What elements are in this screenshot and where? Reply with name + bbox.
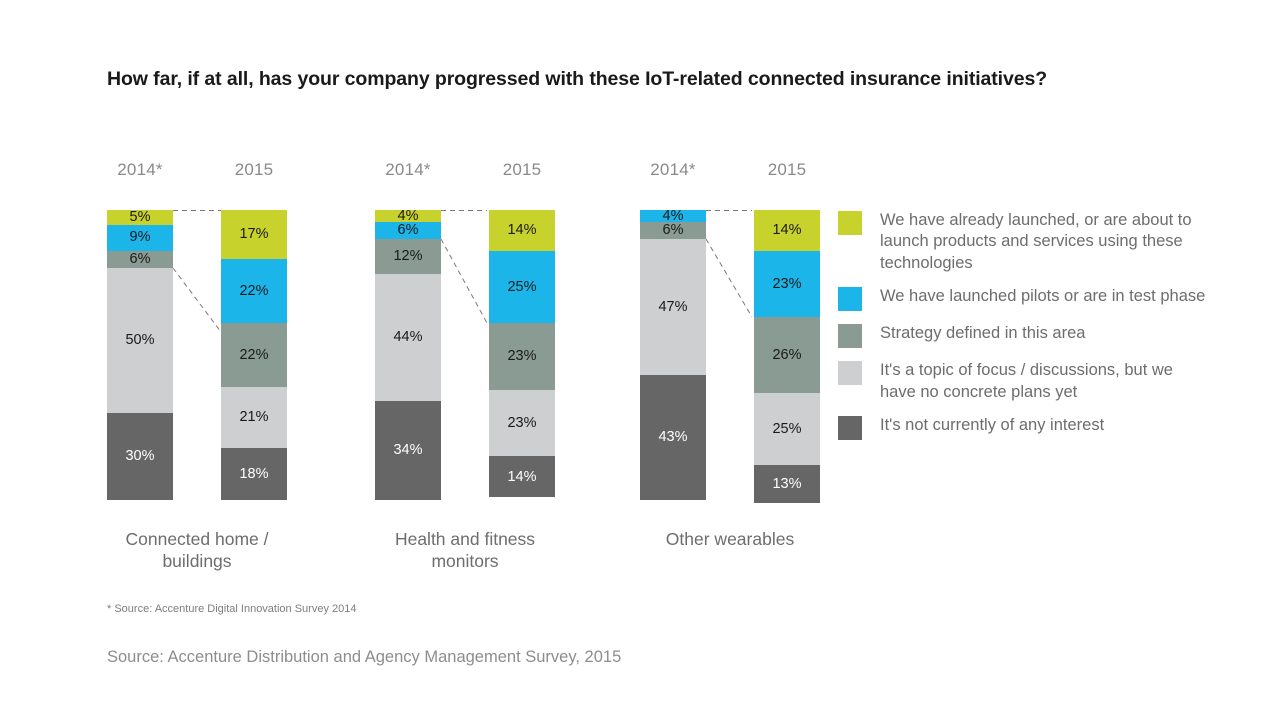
bar-segment-strategy[interactable]: 12% — [375, 239, 441, 274]
bar-segment-launched[interactable]: 17% — [221, 210, 287, 259]
bar-segment-topic[interactable]: 25% — [754, 393, 820, 466]
segment-value-label: 4% — [398, 210, 419, 222]
bar-segment-no-interest[interactable]: 18% — [221, 448, 287, 500]
stacked-bar[interactable]: 14%23%26%25%13% — [754, 210, 820, 500]
bar-segment-topic[interactable]: 50% — [107, 268, 173, 413]
segment-value-label: 4% — [663, 210, 684, 222]
category-label: Connected home /buildings — [102, 528, 292, 573]
category-label: Other wearables — [635, 528, 825, 550]
stacked-bar[interactable]: 5%9%6%50%30% — [107, 210, 173, 500]
segment-value-label: 17% — [239, 227, 268, 242]
bar-segment-strategy[interactable]: 6% — [107, 251, 173, 268]
legend-item[interactable]: We have launched pilots or are in test p… — [838, 286, 1208, 311]
legend-item[interactable]: Strategy defined in this area — [838, 323, 1208, 348]
bar-segment-topic[interactable]: 21% — [221, 387, 287, 448]
bar-segment-launched[interactable]: 4% — [375, 210, 441, 222]
category-label-line1: Other wearables — [635, 528, 825, 550]
segment-value-label: 47% — [658, 300, 687, 315]
bar-segment-pilots[interactable]: 6% — [375, 222, 441, 239]
chart-legend: We have already launched, or are about t… — [838, 210, 1208, 452]
legend-swatch-icon — [838, 416, 862, 440]
bar-segment-no-interest[interactable]: 43% — [640, 375, 706, 500]
segment-value-label: 21% — [239, 410, 268, 425]
legend-swatch-icon — [838, 324, 862, 348]
bar-segment-no-interest[interactable]: 13% — [754, 465, 820, 503]
bar-segment-topic[interactable]: 47% — [640, 239, 706, 375]
legend-swatch-icon — [838, 361, 862, 385]
segment-value-label: 6% — [663, 223, 684, 238]
bar-segment-topic[interactable]: 23% — [489, 390, 555, 457]
legend-label: We have already launched, or are about t… — [880, 210, 1208, 274]
bar-segment-no-interest[interactable]: 14% — [489, 456, 555, 497]
segment-value-label: 12% — [393, 249, 422, 264]
source-main: Source: Accenture Distribution and Agenc… — [107, 648, 621, 667]
stacked-bar[interactable]: 14%25%23%23%14% — [489, 210, 555, 500]
bar-segment-strategy[interactable]: 23% — [489, 323, 555, 390]
bar-segment-pilots[interactable]: 9% — [107, 225, 173, 251]
segment-value-label: 5% — [130, 210, 151, 225]
source-footnote: * Source: Accenture Digital Innovation S… — [107, 603, 356, 615]
segment-value-label: 26% — [772, 348, 801, 363]
segment-value-label: 14% — [507, 223, 536, 238]
segment-value-label: 44% — [393, 330, 422, 345]
stacked-bar[interactable]: 4%6%12%44%34% — [375, 210, 441, 500]
bar-segment-launched[interactable]: 5% — [107, 210, 173, 225]
year-label: 2014* — [640, 160, 706, 180]
segment-value-label: 25% — [507, 280, 536, 295]
legend-swatch-icon — [838, 287, 862, 311]
bar-segment-launched[interactable]: 14% — [489, 210, 555, 251]
bar-segment-pilots[interactable]: 25% — [489, 251, 555, 324]
year-label: 2014* — [107, 160, 173, 180]
category-label: Health and fitnessmonitors — [370, 528, 560, 573]
category-label-line1: Connected home / — [102, 528, 292, 550]
bar-segment-topic[interactable]: 44% — [375, 274, 441, 402]
segment-value-label: 23% — [772, 277, 801, 292]
legend-swatch-icon — [838, 211, 862, 235]
segment-value-label: 23% — [507, 349, 536, 364]
year-label: 2014* — [375, 160, 441, 180]
segment-value-label: 6% — [130, 252, 151, 267]
segment-value-label: 13% — [772, 477, 801, 492]
legend-label: We have launched pilots or are in test p… — [880, 286, 1205, 307]
segment-value-label: 34% — [393, 443, 422, 458]
segment-value-label: 22% — [239, 348, 268, 363]
segment-value-label: 43% — [658, 430, 687, 445]
segment-value-label: 9% — [130, 230, 151, 245]
bar-segment-launched[interactable]: 14% — [754, 210, 820, 251]
category-label-line2: monitors — [370, 550, 560, 572]
category-label-line1: Health and fitness — [370, 528, 560, 550]
segment-value-label: 18% — [239, 467, 268, 482]
stacked-bar[interactable]: 17%22%22%21%18% — [221, 210, 287, 500]
segment-value-label: 30% — [125, 449, 154, 464]
legend-item[interactable]: It's a topic of focus / discussions, but… — [838, 360, 1208, 403]
segment-value-label: 14% — [507, 470, 536, 485]
segment-value-label: 23% — [507, 416, 536, 431]
segment-value-label: 50% — [125, 333, 154, 348]
legend-item[interactable]: We have already launched, or are about t… — [838, 210, 1208, 274]
bar-segment-strategy[interactable]: 22% — [221, 323, 287, 387]
segment-value-label: 6% — [398, 223, 419, 238]
category-label-line2: buildings — [102, 550, 292, 572]
segment-value-label: 25% — [772, 422, 801, 437]
year-label: 2015 — [754, 160, 820, 180]
bar-segment-strategy[interactable]: 6% — [640, 222, 706, 239]
bar-segment-no-interest[interactable]: 34% — [375, 401, 441, 500]
legend-item[interactable]: It's not currently of any interest — [838, 415, 1208, 440]
legend-label: It's a topic of focus / discussions, but… — [880, 360, 1208, 403]
bar-segment-pilots[interactable]: 4% — [640, 210, 706, 222]
bar-segment-strategy[interactable]: 26% — [754, 317, 820, 392]
segment-value-label: 14% — [772, 223, 801, 238]
year-label: 2015 — [221, 160, 287, 180]
legend-label: Strategy defined in this area — [880, 323, 1085, 344]
stacked-bar[interactable]: 4%6%47%43% — [640, 210, 706, 500]
bar-segment-pilots[interactable]: 23% — [754, 251, 820, 318]
year-label: 2015 — [489, 160, 555, 180]
segment-value-label: 22% — [239, 284, 268, 299]
bar-segment-no-interest[interactable]: 30% — [107, 413, 173, 500]
legend-label: It's not currently of any interest — [880, 415, 1104, 436]
bar-segment-pilots[interactable]: 22% — [221, 259, 287, 323]
